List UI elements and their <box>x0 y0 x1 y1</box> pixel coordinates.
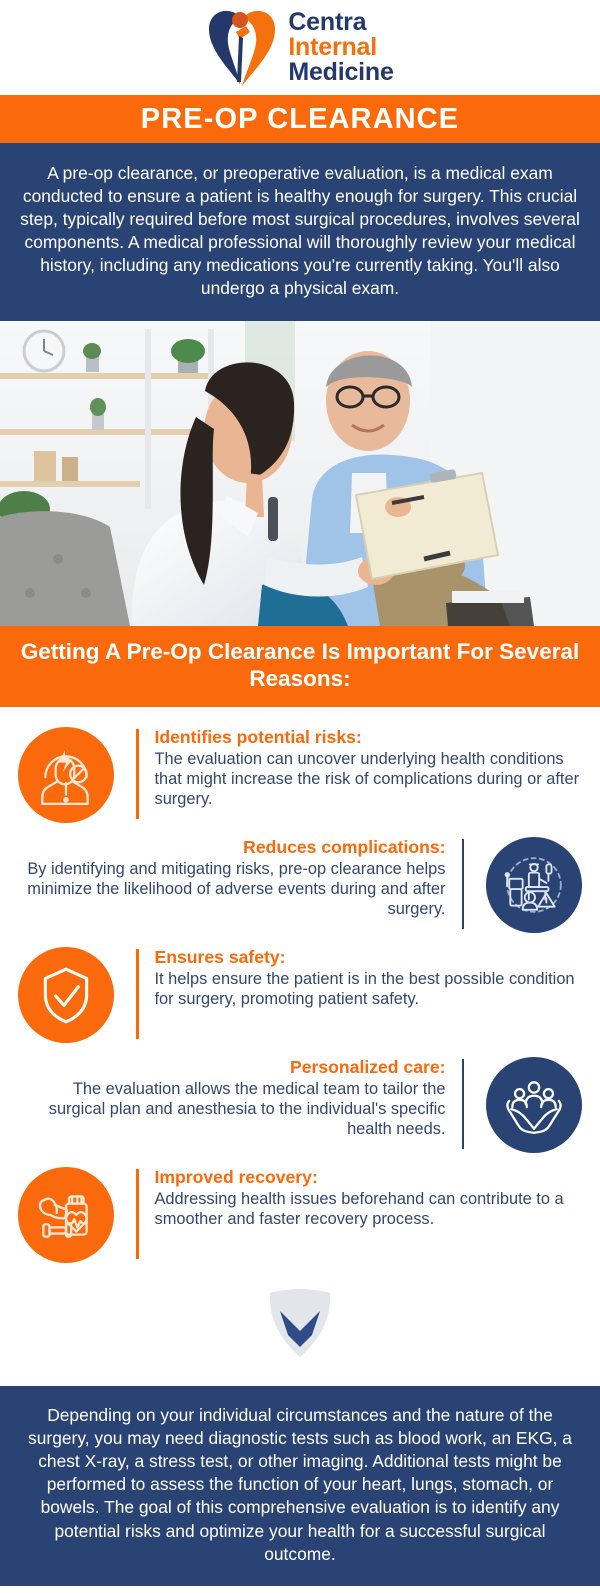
person-risk-alert-icon <box>18 727 114 823</box>
brand-line-2: Internal <box>288 35 393 60</box>
reason-divider <box>136 729 139 819</box>
reason-item: Reduces complications: By identifying an… <box>0 829 600 939</box>
reason-text: Improved recovery: Addressing health iss… <box>155 1165 583 1230</box>
reason-body: The evaluation allows the medical team t… <box>18 1080 446 1140</box>
reason-divider <box>462 1059 465 1149</box>
reason-body: Addressing health issues beforehand can … <box>155 1190 583 1230</box>
reason-title: Reduces complications: <box>18 837 446 858</box>
reason-title: Personalized care: <box>18 1057 446 1078</box>
reason-item: Personalized care: The evaluation allows… <box>0 1049 600 1159</box>
footer-section: Depending on your individual circumstanc… <box>0 1386 600 1586</box>
operating-room-warning-icon <box>486 837 582 933</box>
doctor-patient-consultation-photo <box>0 321 600 626</box>
reason-item: Ensures safety: It helps ensure the pati… <box>0 939 600 1049</box>
reason-body: The evaluation can uncover underlying he… <box>155 750 583 810</box>
footer-text: Depending on your individual circumstanc… <box>22 1404 578 1566</box>
reason-text: Reduces complications: By identifying an… <box>18 835 446 920</box>
hands-holding-people-icon <box>486 1057 582 1153</box>
reason-item: Improved recovery: Addressing health iss… <box>0 1159 600 1269</box>
reason-body: By identifying and mitigating risks, pre… <box>18 860 446 920</box>
brand-wordmark: Centra Internal Medicine <box>288 10 393 84</box>
reason-divider <box>462 839 465 929</box>
reason-item: Identifies potential risks: The evaluati… <box>0 719 600 829</box>
reason-title: Ensures safety: <box>155 947 583 968</box>
intro-text: A pre-op clearance, or preoperative eval… <box>18 162 582 301</box>
fitness-supplement-heart-icon <box>18 1167 114 1263</box>
reasons-section-header: Getting A Pre-Op Clearance Is Important … <box>0 626 600 707</box>
page-title: PRE-OP CLEARANCE <box>141 103 459 136</box>
reason-text: Personalized care: The evaluation allows… <box>18 1055 446 1140</box>
reason-divider <box>136 1169 139 1259</box>
reason-title: Improved recovery: <box>155 1167 583 1188</box>
intro-section: A pre-op clearance, or preoperative eval… <box>0 143 600 321</box>
reasons-section-heading: Getting A Pre-Op Clearance Is Important … <box>20 638 580 693</box>
brand-logo-bar: Centra Internal Medicine <box>0 0 600 95</box>
reason-divider <box>136 949 139 1039</box>
brand-line-1: Centra <box>288 10 393 35</box>
shield-chevron-down-icon <box>264 1285 336 1366</box>
reason-text: Identifies potential risks: The evaluati… <box>155 725 583 810</box>
reasons-list: Identifies potential risks: The evaluati… <box>0 707 600 1269</box>
page-title-bar: PRE-OP CLEARANCE <box>0 95 600 143</box>
reason-body: It helps ensure the patient is in the be… <box>155 970 583 1010</box>
brand-line-3: Medicine <box>288 60 393 85</box>
shield-check-icon <box>18 947 114 1043</box>
heart-people-logo-icon <box>206 8 278 88</box>
divider-section <box>0 1269 600 1386</box>
reason-title: Identifies potential risks: <box>155 727 583 748</box>
reason-text: Ensures safety: It helps ensure the pati… <box>155 945 583 1010</box>
